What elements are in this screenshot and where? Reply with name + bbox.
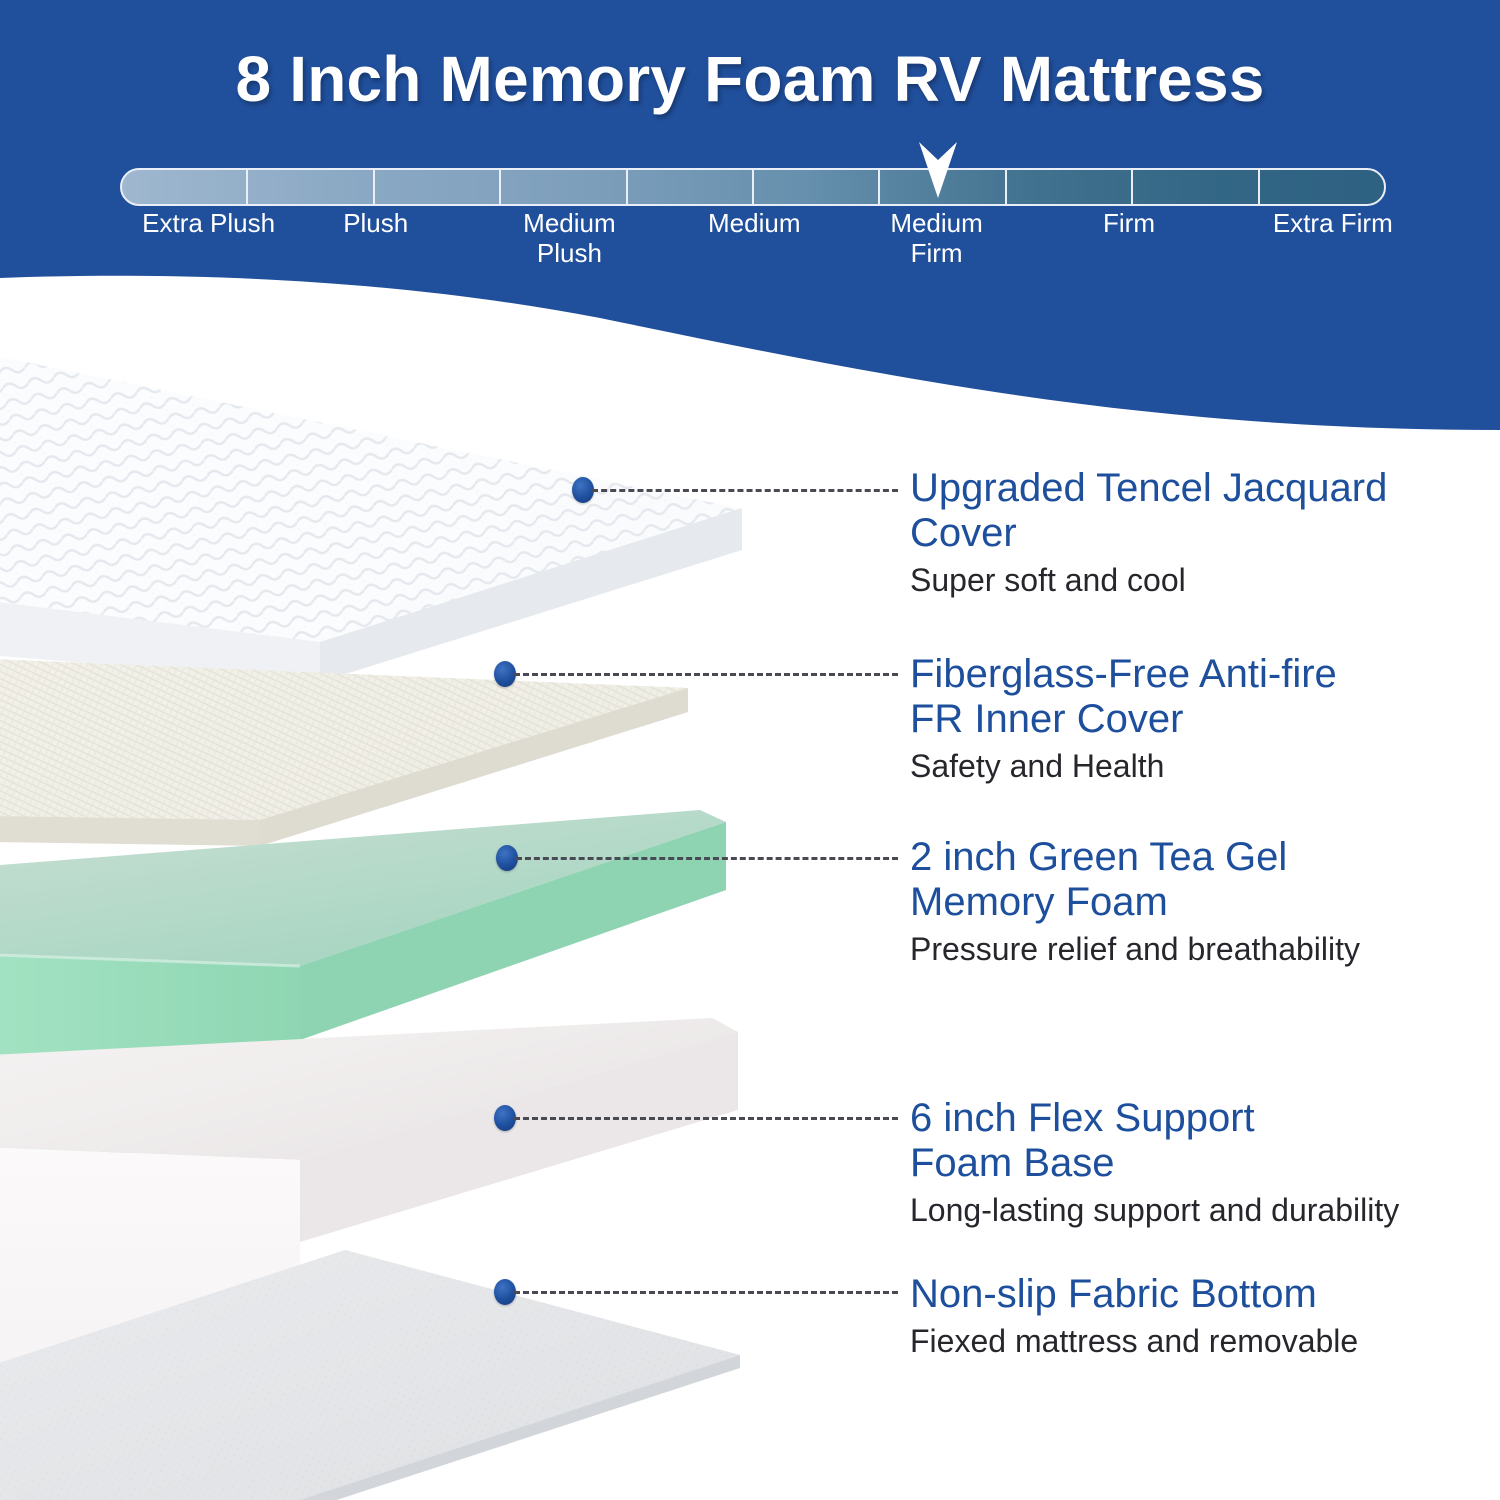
callout-text-block: Fiberglass-Free Anti-fire FR Inner Cover…: [910, 652, 1500, 784]
callout-text-block: 6 inch Flex Support Foam Base Long-lasti…: [910, 1096, 1500, 1228]
callout-leader-line: [514, 673, 898, 676]
firmness-scale[interactable]: [120, 168, 1386, 206]
callout-text-block: Upgraded Tencel Jacquard Cover Super sof…: [910, 466, 1500, 598]
callout-dot: [572, 477, 594, 503]
callout-subtitle: Long-lasting support and durability: [910, 1192, 1500, 1229]
scale-segment[interactable]: [628, 170, 754, 204]
scale-segment[interactable]: [1007, 170, 1133, 204]
scale-label-medium-firm: Medium Firm: [827, 208, 1047, 268]
callout-dot: [494, 661, 516, 687]
callout-dot: [494, 1105, 516, 1131]
scale-label-extra-firm: Extra Firm: [1223, 208, 1443, 238]
callout-title: Non-slip Fabric Bottom: [910, 1272, 1500, 1317]
callout-dot: [494, 1279, 516, 1305]
callout-leader-line: [592, 489, 898, 492]
callout-subtitle: Safety and Health: [910, 748, 1500, 785]
mattress-layers-illustration: [0, 250, 900, 1500]
firmness-scale-labels: Extra Plush Plush Medium Plush Medium Me…: [120, 208, 1386, 284]
product-infographic: 8 Inch Memory Foam RV Mattress: [0, 0, 1500, 1500]
scale-segment[interactable]: [122, 170, 248, 204]
callout-title: Upgraded Tencel Jacquard Cover: [910, 466, 1500, 556]
callout-dot: [496, 845, 518, 871]
callout-subtitle: Super soft and cool: [910, 562, 1500, 599]
scale-label-plush: Plush: [266, 208, 486, 238]
callout-text-block: Non-slip Fabric Bottom Fiexed mattress a…: [910, 1272, 1500, 1360]
page-title: 8 Inch Memory Foam RV Mattress: [0, 46, 1500, 113]
scale-segment[interactable]: [1133, 170, 1259, 204]
scale-segment[interactable]: [754, 170, 880, 204]
scale-segment[interactable]: [1260, 170, 1384, 204]
layer-shape-tencel-cover: [0, 270, 742, 682]
callout-leader-line: [516, 857, 898, 860]
callout-leader-line: [514, 1291, 898, 1294]
down-arrow-marker-icon: [915, 140, 961, 202]
callout-title: 2 inch Green Tea Gel Memory Foam: [910, 835, 1500, 925]
callout-subtitle: Pressure relief and breathability: [910, 931, 1500, 968]
scale-segment[interactable]: [248, 170, 374, 204]
callout-title: 6 inch Flex Support Foam Base: [910, 1096, 1500, 1186]
callout-subtitle: Fiexed mattress and removable: [910, 1323, 1500, 1360]
scale-label-firm: Firm: [1019, 208, 1239, 238]
scale-segment[interactable]: [501, 170, 627, 204]
callout-leader-line: [514, 1117, 898, 1120]
callout-text-block: 2 inch Green Tea Gel Memory Foam Pressur…: [910, 835, 1500, 967]
firmness-scale-bar[interactable]: [120, 168, 1386, 206]
callout-title: Fiberglass-Free Anti-fire FR Inner Cover: [910, 652, 1500, 742]
scale-segment[interactable]: [375, 170, 501, 204]
